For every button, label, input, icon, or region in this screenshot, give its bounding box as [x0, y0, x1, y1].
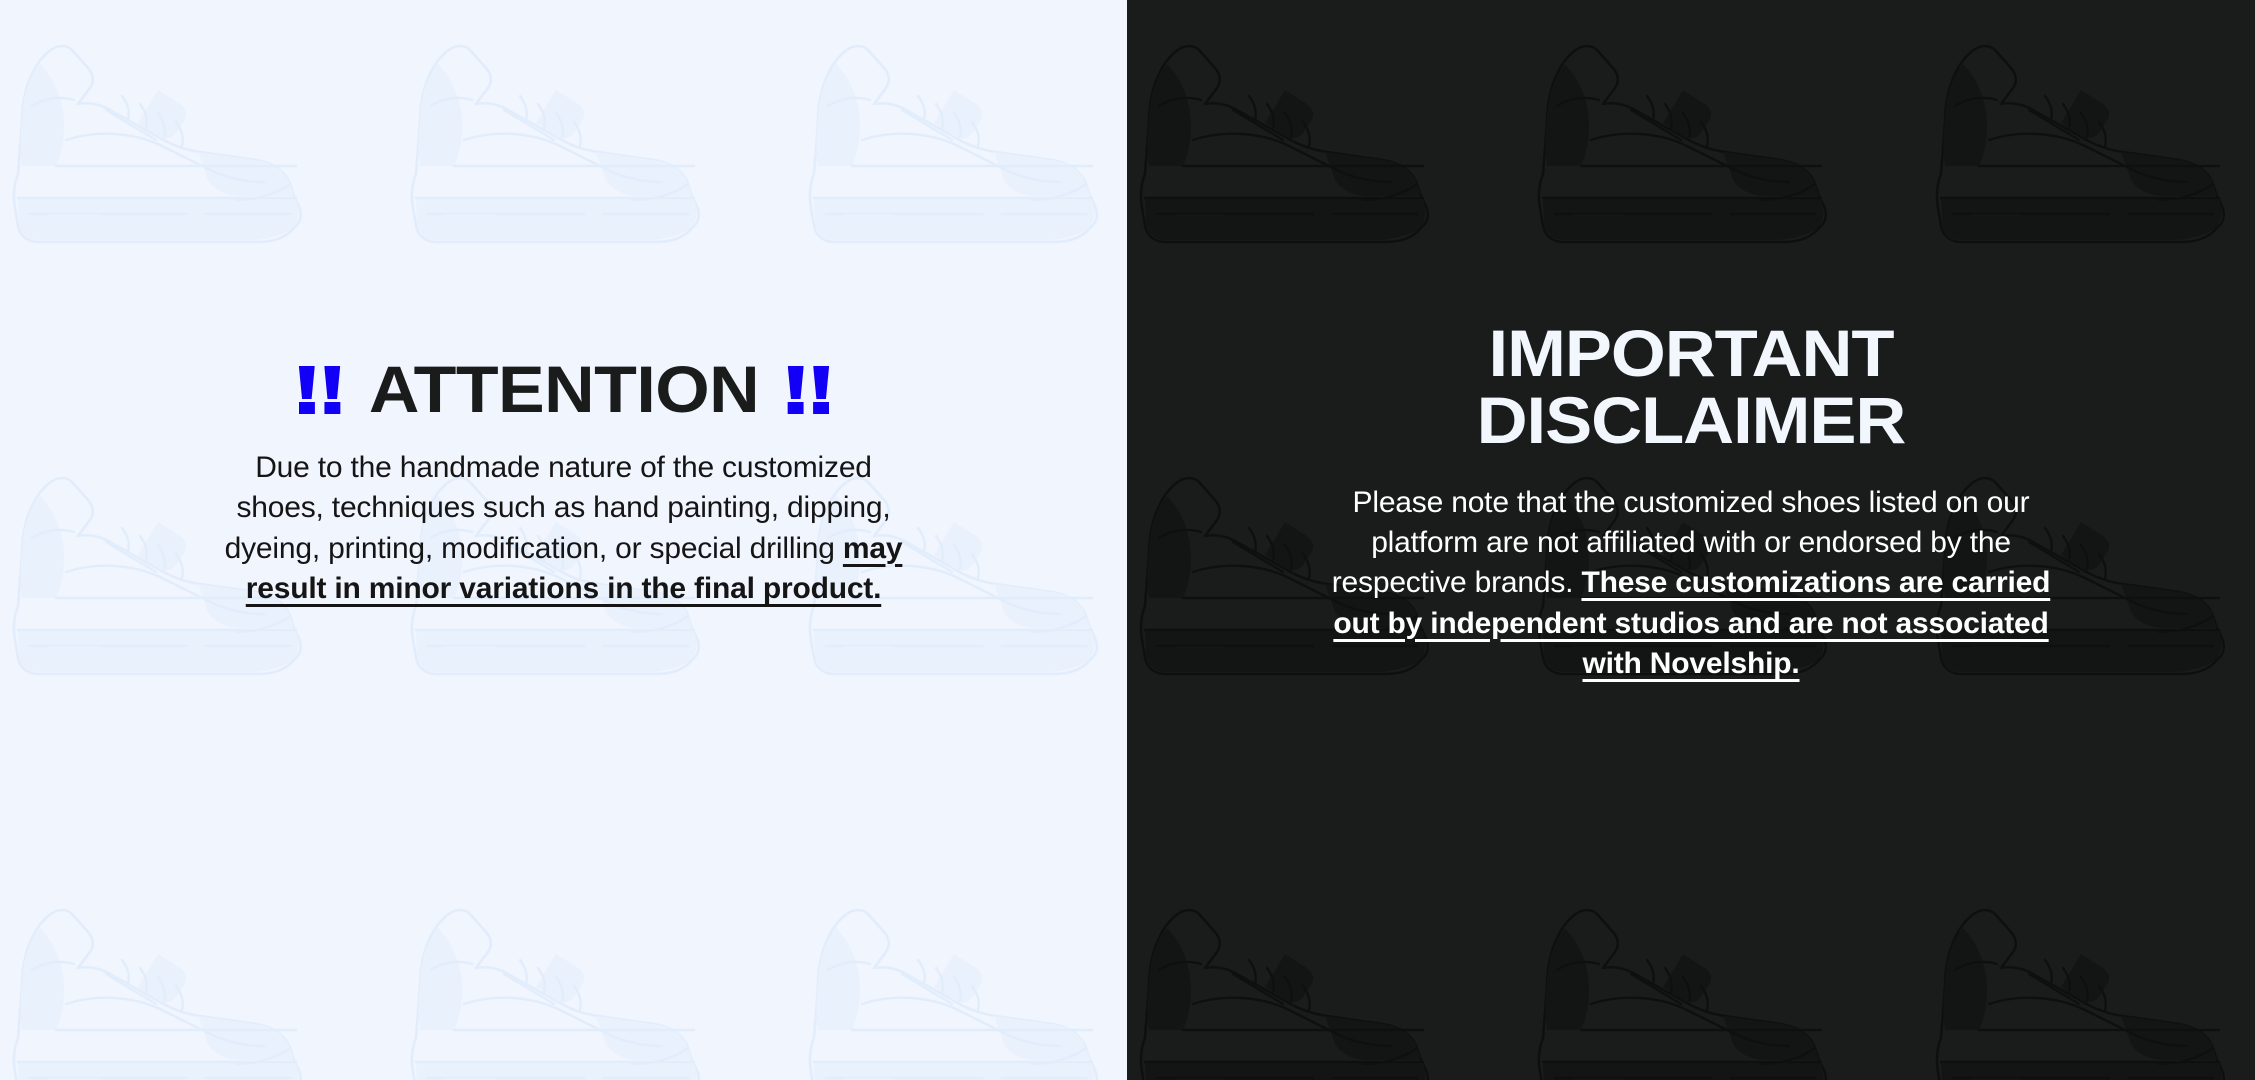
attention-heading: ATTENTION [140, 356, 988, 422]
disclaimer-heading-line-1: IMPORTANT [1268, 320, 2113, 387]
attention-content: ATTENTION Due to the handmade nature of … [164, 356, 964, 609]
double-exclamation-icon-left [297, 366, 340, 414]
disclaimer-heading-line-2: DISCLAIMER [1268, 387, 2113, 454]
attention-body-lead: Due to the handmade nature of the custom… [225, 451, 891, 565]
attention-body: Due to the handmade nature of the custom… [164, 448, 964, 609]
attention-heading-label: ATTENTION [368, 356, 758, 422]
disclaimer-body: Please note that the customized shoes li… [1296, 483, 2086, 685]
disclaimer-content: IMPORTANT DISCLAIMER Please note that th… [1296, 320, 2086, 684]
double-exclamation-icon-right [786, 366, 829, 414]
attention-panel: ATTENTION Due to the handmade nature of … [0, 0, 1127, 1080]
disclaimer-panel: IMPORTANT DISCLAIMER Please note that th… [1127, 0, 2255, 1080]
disclaimer-heading: IMPORTANT DISCLAIMER [1268, 320, 2113, 455]
disclaimer-banner: ATTENTION Due to the handmade nature of … [0, 0, 2255, 1080]
